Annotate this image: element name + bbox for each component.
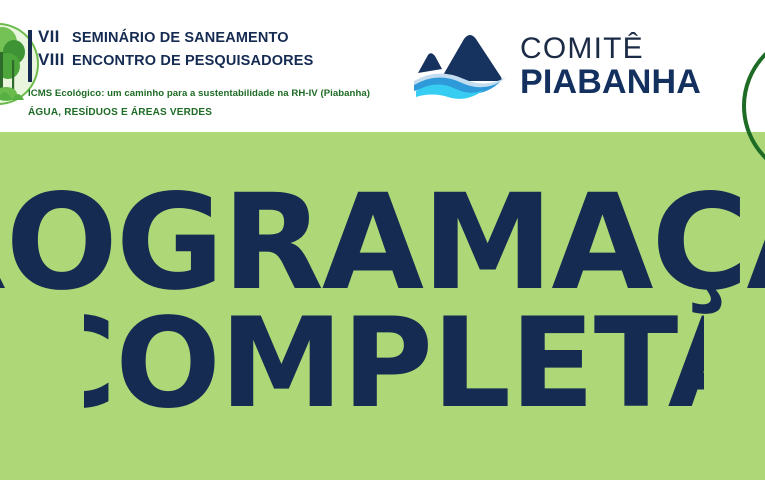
logo-wordmark: COMITÊ PIABANHA — [520, 34, 701, 99]
event-banner: PROGRAMAÇÃO COMPLETA VII SEMINÁRI — [0, 0, 765, 480]
event-subtitle-topics: ÁGUA, RESÍDUOS E ÁREAS VERDES — [28, 107, 212, 118]
event-subtitle-theme: ICMS Ecológico: um caminho para a susten… — [28, 88, 370, 99]
logo-word-comite: COMITÊ — [520, 34, 701, 64]
event-title-block: VII SEMINÁRIO DE SANEAMENTO VIII ENCONTR… — [28, 27, 313, 70]
event-roman-numeral: VII — [38, 27, 72, 47]
logo-word-piabanha: PIABANHA — [520, 65, 701, 99]
headline-area: PROGRAMAÇÃO COMPLETA — [0, 132, 765, 480]
mountain-wave-icon — [408, 29, 512, 103]
event-roman-numeral: VIII — [38, 50, 72, 70]
headline-line-2-text: COMPLETA — [84, 306, 704, 428]
event-title-row: VIII ENCONTRO DE PESQUISADORES — [28, 50, 313, 70]
event-title-row: VII SEMINÁRIO DE SANEAMENTO — [28, 27, 313, 47]
event-title-text: ENCONTRO DE PESQUISADORES — [72, 53, 313, 69]
event-title-text: SEMINÁRIO DE SANEAMENTO — [72, 30, 289, 46]
headline-line-1-text: PROGRAMAÇÃO — [0, 176, 765, 316]
comite-piabanha-logo: COMITÊ PIABANHA — [408, 26, 701, 106]
headline-line-2: COMPLETA — [84, 306, 704, 428]
headline-line-1: PROGRAMAÇÃO — [0, 176, 765, 316]
